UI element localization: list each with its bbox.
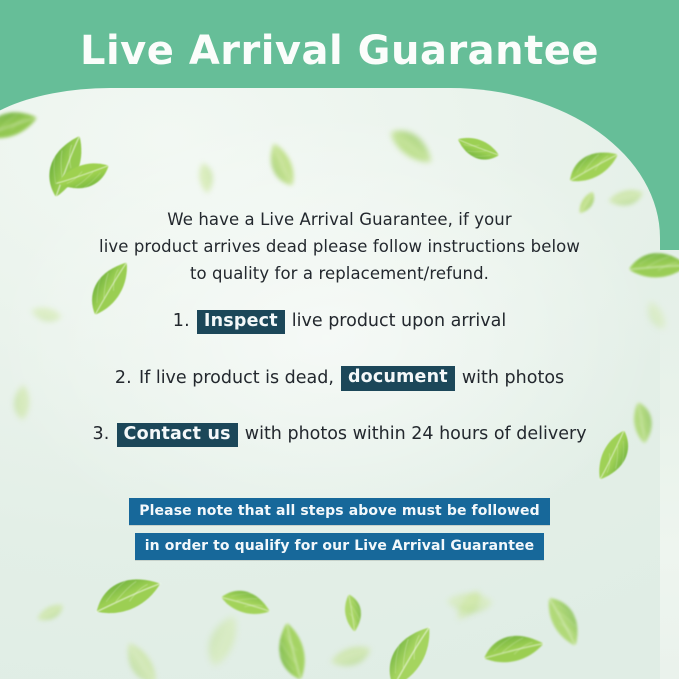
step-highlight-document: document [341, 366, 455, 391]
step-text-after: live product upon arrival [292, 313, 506, 331]
step-item-2: 2. If live product is dead, document wit… [0, 366, 679, 391]
intro-line-1: We have a Live Arrival Guarantee, if you… [60, 206, 619, 233]
poster-body: We have a Live Arrival Guarantee, if you… [0, 206, 679, 447]
intro-line-3: to quality for a replacement/refund. [60, 260, 619, 287]
intro-line-2: live product arrives dead please follow … [60, 233, 619, 260]
step-highlight-inspect: Inspect [197, 310, 285, 335]
poster-canvas: Live Arrival Guarantee We have a Live Ar… [0, 0, 679, 679]
page-title: Live Arrival Guarantee [80, 31, 599, 79]
step-highlight-contact-us: Contact us [117, 423, 238, 448]
step-text-before: If live product is dead, [139, 370, 334, 388]
step-text-after: with photos [462, 370, 564, 388]
step-number: 1. [173, 313, 190, 331]
steps-list: 1. Inspect live product upon arrival 2. … [0, 310, 679, 448]
footer-note-block: Please note that all steps above must be… [0, 498, 679, 560]
poster-header: Live Arrival Guarantee [0, 0, 679, 110]
step-item-1: 1. Inspect live product upon arrival [0, 310, 679, 335]
step-number: 3. [92, 426, 109, 444]
intro-paragraph: We have a Live Arrival Guarantee, if you… [0, 206, 679, 288]
step-text-after: with photos within 24 hours of delivery [245, 426, 587, 444]
note-bar-line-1: Please note that all steps above must be… [129, 498, 549, 525]
step-item-3: 3. Contact us with photos within 24 hour… [0, 423, 679, 448]
step-number: 2. [115, 370, 132, 388]
note-bar-line-2: in order to qualify for our Live Arrival… [135, 533, 544, 560]
